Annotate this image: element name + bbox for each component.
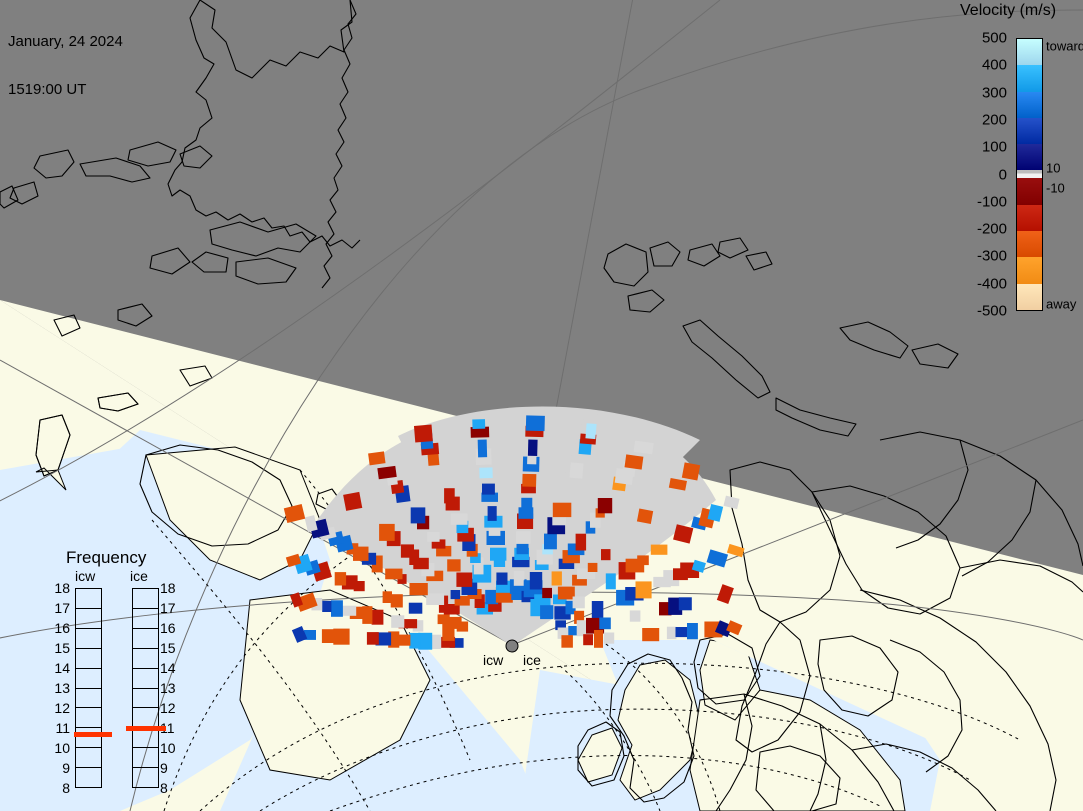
frequency-segment [133,689,158,709]
frequency-scale-left: 18171615141312111098 [48,588,72,788]
velocity-cell [676,627,689,637]
frequency-segment [76,629,101,649]
frequency-segment [76,609,101,629]
velocity-cell [592,601,604,618]
velocity-tick-0: 0 [999,166,1007,183]
frequency-segment [76,689,101,709]
frequency-tick-8: 8 [160,780,168,796]
frequency-tick-8: 8 [62,780,70,796]
velocity-colorbar [1016,38,1043,311]
frequency-segment [76,589,101,609]
velocity-cell [553,503,572,517]
velocity-cell [667,627,677,639]
velocity-cell [331,600,343,617]
frequency-tick-12: 12 [54,700,70,716]
radar-map-app: January, 24 2024 1519:00 UT Velocity (m/… [0,0,1083,811]
velocity-cell [372,610,384,625]
frequency-tick-13: 13 [160,680,176,696]
frequency-tick-17: 17 [160,600,176,616]
velocity-cell [478,439,487,457]
frequency-segment [133,768,158,787]
velocity-cell [604,633,614,644]
velocity-cell [542,588,552,598]
velocity-band-neutral [1017,170,1042,178]
velocity-cell [516,531,530,544]
frequency-segment [76,708,101,728]
velocity-cell [411,507,426,523]
velocity-cell [444,488,455,503]
frequency-segment [133,669,158,689]
velocity-band-away-4 [1017,284,1042,310]
velocity-cell [451,513,468,524]
frequency-tick-18: 18 [54,580,70,596]
velocity-cell [636,581,652,598]
velocity-cell [482,484,495,495]
frequency-segment [76,669,101,689]
frequency-segment [133,609,158,629]
velocity-cell [514,571,525,586]
velocity-tick-300: 300 [982,84,1007,101]
frequency-segment [133,728,158,748]
velocity-cell [488,506,497,521]
velocity-tick-200: 200 [982,111,1007,128]
velocity-cell [558,587,575,600]
velocity-tick--500: -500 [977,303,1007,320]
frequency-tick-16: 16 [54,620,70,636]
velocity-cell [367,632,379,645]
frequency-tick-15: 15 [160,640,176,656]
frequency-segment [133,748,158,768]
frequency-segment [133,589,158,609]
frequency-segment [76,768,101,787]
velocity-cell [447,559,460,571]
velocity-cell [379,524,395,541]
frequency-bar-ice [132,588,159,788]
velocity-cell [426,593,444,605]
frequency-tick-9: 9 [160,760,168,776]
velocity-cell [385,569,402,580]
velocity-label-toward: toward [1046,39,1083,54]
velocity-cell [585,423,596,439]
frequency-tick-10: 10 [54,740,70,756]
frequency-segment [133,629,158,649]
velocity-cell [544,534,557,550]
frequency-tick-9: 9 [62,760,70,776]
frequency-marker-icw [74,732,112,737]
velocity-cell [682,462,700,480]
velocity-cell [687,623,698,639]
velocity-cell [599,618,611,630]
velocity-tick-400: 400 [982,57,1007,74]
velocity-tick-500: 500 [982,30,1007,47]
velocity-cell [409,603,423,614]
velocity-band-toward-1 [1017,65,1042,91]
velocity-cell [540,605,553,619]
velocity-tick-100: 100 [982,139,1007,156]
velocity-band-away-0 [1017,178,1042,204]
velocity-cell [414,425,433,443]
velocity-band-toward-2 [1017,92,1042,118]
velocity-cell [522,474,536,487]
velocity-legend: Velocity (m/s) 5004003002001000-100-200-… [950,0,1083,330]
frequency-tick-16: 16 [160,620,176,636]
frequency-tick-11: 11 [55,720,70,736]
velocity-cell [642,628,659,641]
frequency-scale-right: 18171615141312111098 [158,588,182,788]
velocity-cell [391,615,404,628]
velocity-label-neg-threshold: -10 [1046,181,1065,196]
velocity-cell [427,532,439,542]
velocity-cell [570,462,584,478]
velocity-band-toward-0 [1017,39,1042,65]
velocity-cell [606,573,616,589]
velocity-cell [637,555,649,565]
frequency-segment [76,748,101,768]
frequency-bar-icw [75,588,102,788]
velocity-cell [383,591,392,603]
velocity-cell [594,630,603,648]
velocity-band-toward-3 [1017,118,1042,144]
velocity-cell [401,544,414,557]
velocity-cell [630,610,641,621]
frequency-tick-18: 18 [160,580,176,596]
velocity-cell [322,629,340,643]
velocity-cell [552,571,562,585]
site-label-ice: ice [523,652,541,668]
velocity-legend-title: Velocity (m/s) [960,2,1056,20]
velocity-cell [438,614,450,624]
velocity-band-away-1 [1017,205,1042,231]
velocity-cell [368,451,385,465]
velocity-cell [391,594,403,607]
frequency-tick-14: 14 [54,660,70,676]
velocity-band-away-2 [1017,231,1042,257]
velocity-cell [521,498,532,512]
velocity-cell [601,549,611,560]
velocity-cell [526,415,545,431]
frequency-bar-label-ice: ice [130,568,148,584]
radar-site-marker [506,640,518,652]
velocity-cell [490,548,506,561]
velocity-cell [598,498,612,513]
velocity-tick--400: -400 [977,275,1007,292]
frequency-tick-14: 14 [160,660,176,676]
velocity-cell [472,419,485,429]
velocity-cell [343,492,362,511]
frequency-segment [76,649,101,669]
velocity-tick--300: -300 [977,248,1007,265]
velocity-label-away: away [1046,297,1076,312]
velocity-cell [451,590,461,599]
frequency-marker-ice [126,726,166,731]
frequency-bar-label-icw: icw [75,568,95,584]
frequency-tick-13: 13 [54,680,70,696]
velocity-band-away-3 [1017,257,1042,283]
velocity-cell [528,439,538,456]
velocity-cell [573,597,585,609]
velocity-cell [496,573,507,585]
velocity-cell [479,467,492,478]
frequency-tick-12: 12 [160,700,176,716]
velocity-tick--100: -100 [977,193,1007,210]
timestamp-date: January, 24 2024 [8,34,123,50]
timestamp-time: 1519:00 UT [8,82,123,98]
frequency-segment [133,649,158,669]
velocity-cell [530,572,542,590]
velocity-band-toward-4 [1017,144,1042,170]
velocity-colorbar-side-labels: toward10-10away [1046,38,1083,311]
velocity-cell [398,635,410,646]
velocity-label-pos-threshold: 10 [1046,161,1060,176]
velocity-cell [456,573,472,587]
velocity-cell [410,583,428,595]
frequency-tick-10: 10 [160,740,176,756]
timestamp: January, 24 2024 1519:00 UT [8,2,123,130]
velocity-cell [625,454,644,469]
frequency-tick-17: 17 [54,600,70,616]
frequency-tick-15: 15 [54,640,70,656]
velocity-cell [322,601,331,612]
velocity-cell [637,508,653,523]
velocity-cell [651,545,668,555]
velocity-cell [576,534,587,551]
velocity-cell [588,563,598,572]
velocity-cell [679,597,692,610]
velocity-colorbar-ticks: 5004003002001000-100-200-300-400-500 [950,38,1012,311]
frequency-legend-title: Frequency [66,548,146,568]
velocity-cell [418,633,432,650]
site-label-icw: icw [483,652,503,668]
velocity-cell [335,572,346,585]
velocity-cell [583,634,593,645]
velocity-tick--200: -200 [977,221,1007,238]
velocity-cell [561,635,573,648]
frequency-legend: Frequency icw ice 18171615141312111098 1… [50,548,195,783]
velocity-cell [409,633,420,649]
